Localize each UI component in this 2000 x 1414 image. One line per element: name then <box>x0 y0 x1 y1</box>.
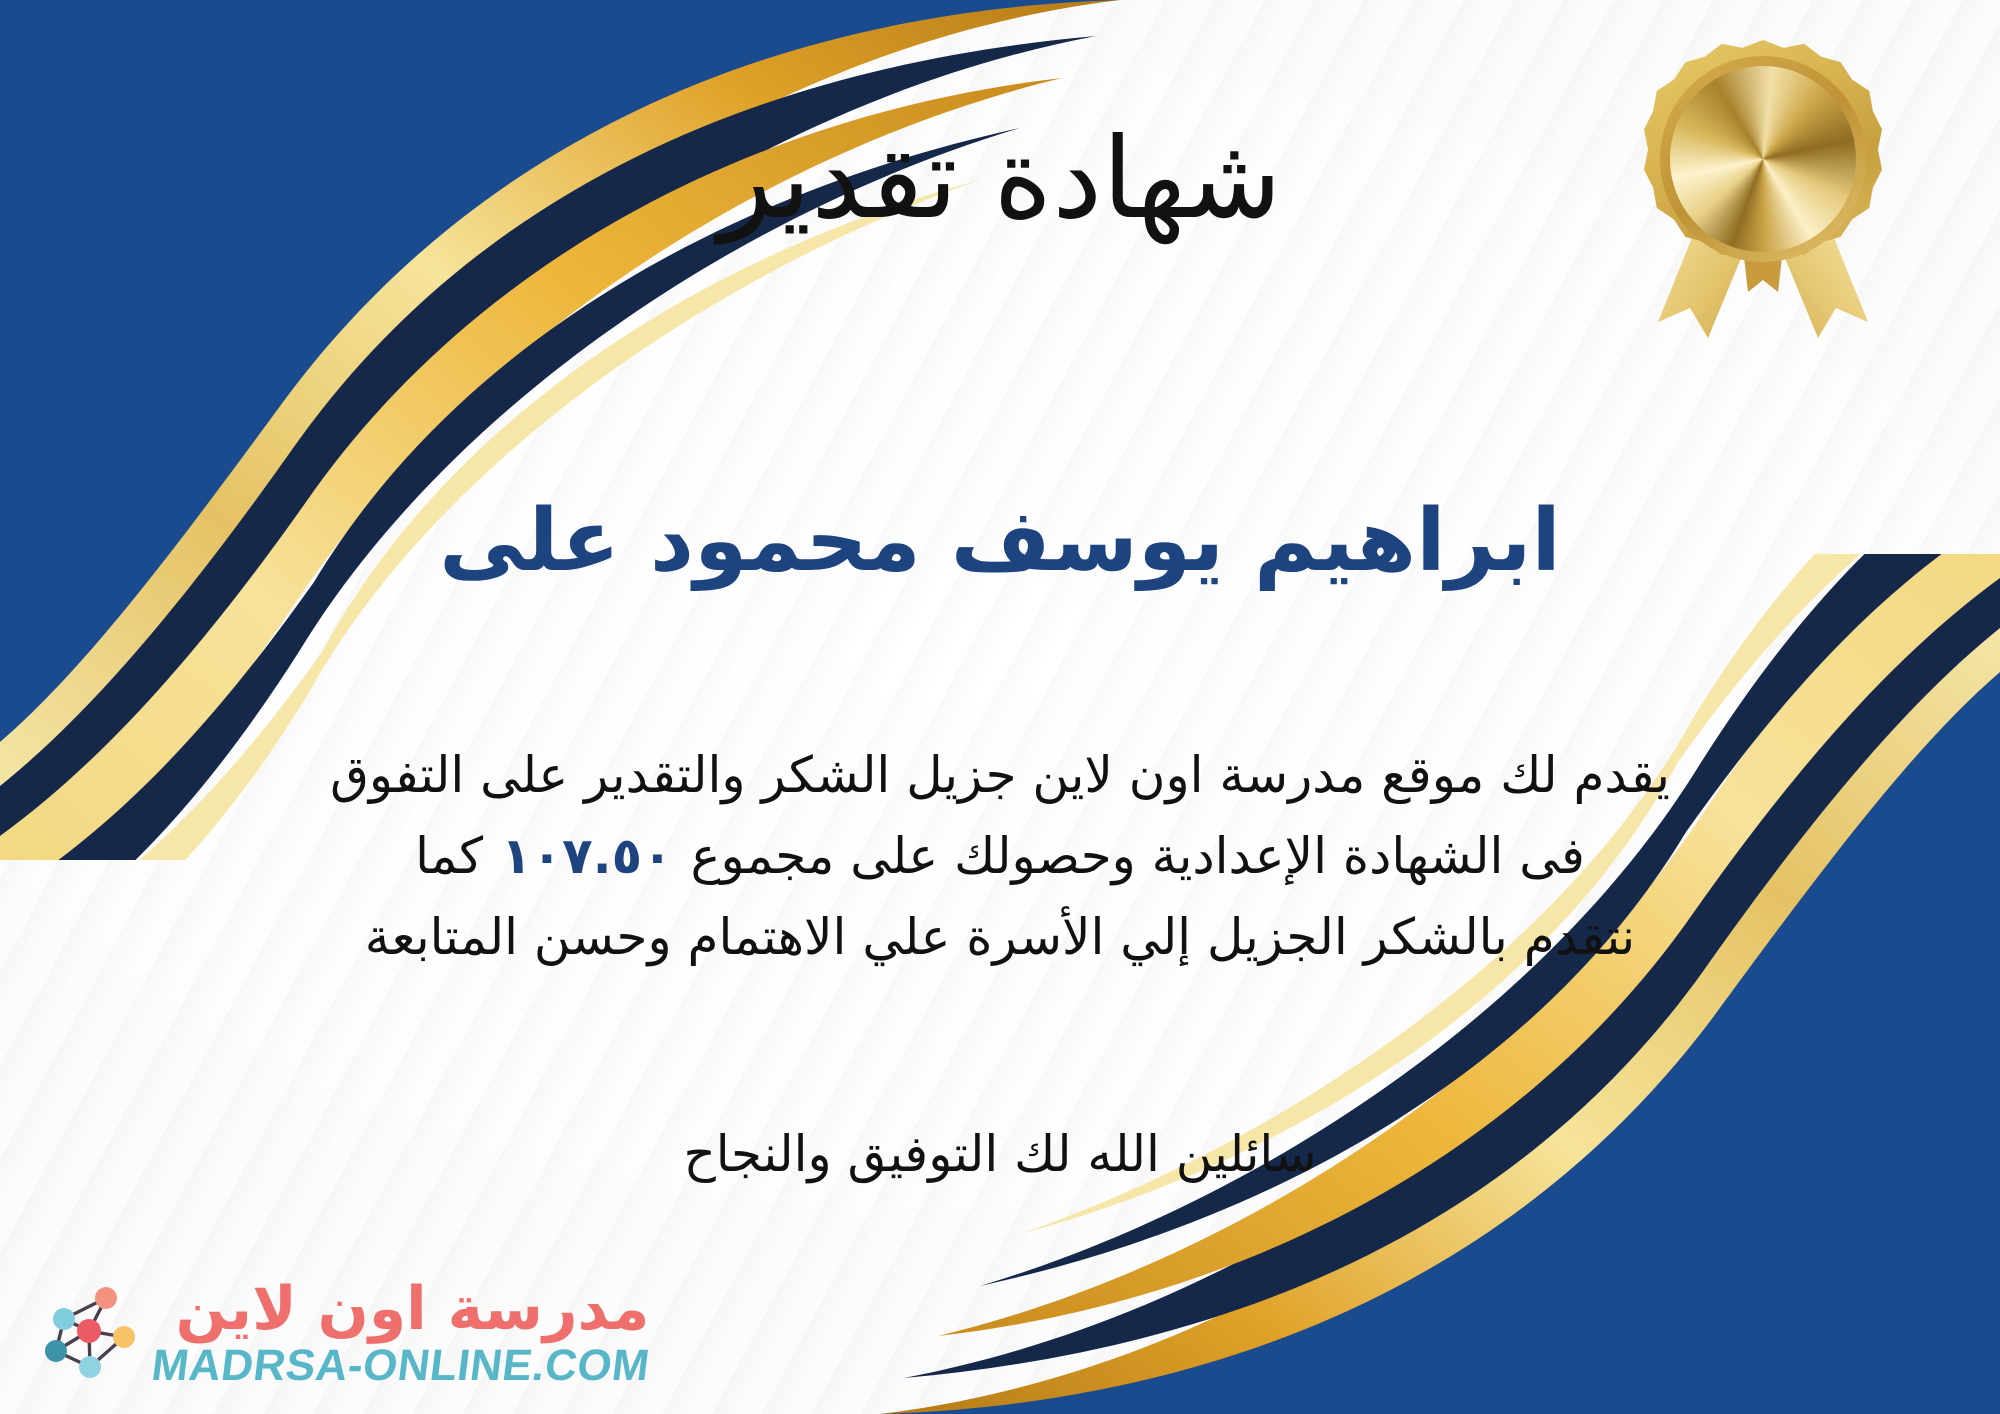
recipient-name: ابراهيم يوسف محمود على <box>0 492 2000 591</box>
body-line-2-suffix: كما <box>415 827 483 885</box>
node-red <box>77 1319 101 1343</box>
body-line-1: يقدم لك موقع مدرسة اون لاين جزيل الشكر و… <box>120 735 1880 816</box>
brand-arabic-name: مدرسة اون لاين <box>176 1277 650 1342</box>
body-line-2: فى الشهادة الإعدادية وحصولك على مجموع١٠٧… <box>120 816 1880 897</box>
node-skyblue <box>79 1356 101 1378</box>
body-line-3: نتقدم بالشكر الجزيل إلي الأسرة علي الاهت… <box>120 897 1880 978</box>
brand-text-block: مدرسة اون لاين MADRSA-ONLINE.COM <box>152 1277 649 1390</box>
certificate-title: شهادة تقدير <box>0 118 2000 241</box>
node-yellow <box>113 1326 135 1348</box>
closing-wish-text: سائلين الله لك التوفيق والنجاح <box>0 1125 2000 1183</box>
network-nodes-icon <box>34 1281 138 1385</box>
node-coral <box>95 1287 117 1309</box>
brand-logo[interactable]: مدرسة اون لاين MADRSA-ONLINE.COM <box>34 1277 649 1390</box>
node-teal <box>45 1340 67 1362</box>
body-line-2-prefix: فى الشهادة الإعدادية وحصولك على مجموع <box>691 827 1585 885</box>
brand-website-url[interactable]: MADRSA-ONLINE.COM <box>149 1342 652 1390</box>
node-lightblue <box>53 1308 75 1330</box>
certificate-body-text: يقدم لك موقع مدرسة اون لاين جزيل الشكر و… <box>120 735 1880 978</box>
grade-total-value: ١٠٧.٥٠ <box>483 827 691 885</box>
certificate-content: شهادة تقدير ابراهيم يوسف محمود على يقدم … <box>0 0 2000 1414</box>
certificate-canvas: شهادة تقدير ابراهيم يوسف محمود على يقدم … <box>0 0 2000 1414</box>
